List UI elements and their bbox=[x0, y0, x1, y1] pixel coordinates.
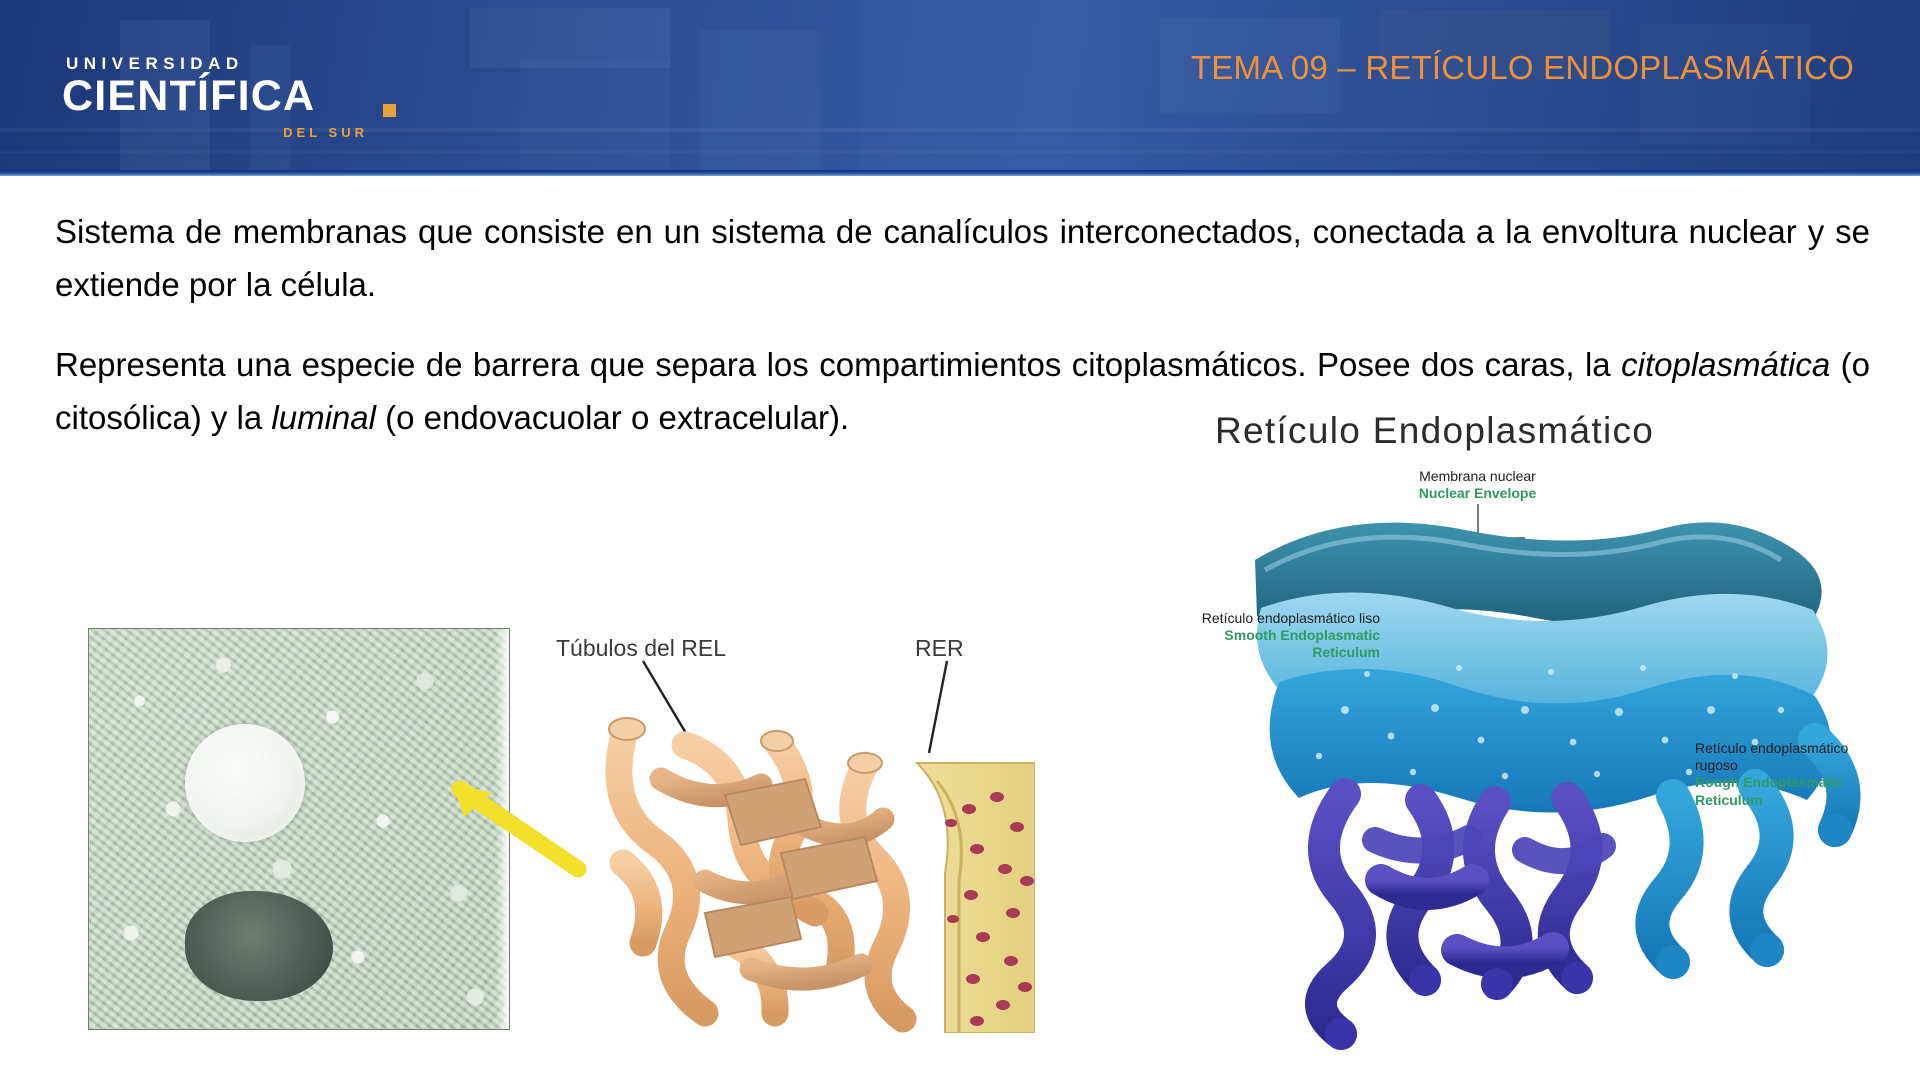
label-membrana-nuclear-es: Membrana nuclear bbox=[1360, 468, 1595, 485]
paragraph-2-text-1: Representa una especie de barrera que se… bbox=[55, 346, 1621, 383]
er-labeled-diagram: Retículo Endoplasmático bbox=[1195, 410, 1895, 1070]
label-reticulo-rugoso-es: Retículo endoplasmático rugoso bbox=[1695, 740, 1885, 774]
label-membrana-nuclear-en: Nuclear Envelope bbox=[1360, 485, 1595, 502]
label-reticulo-liso-es: Retículo endoplasmático liso bbox=[1200, 610, 1380, 627]
label-reticulo-rugoso-en: Rough Endoplasmatic Reticulum bbox=[1695, 774, 1885, 808]
university-logo: UNIVERSIDAD CIENTÍFICA DEL SUR bbox=[62, 55, 392, 130]
paragraph-2-text-3: (o endovacuolar o extracelular). bbox=[376, 399, 849, 436]
yellow-pointer-arrow-icon bbox=[400, 773, 590, 883]
label-reticulo-rugoso: Retículo endoplasmático rugoso Rough End… bbox=[1695, 740, 1885, 809]
label-membrana-nuclear: Membrana nuclear Nuclear Envelope bbox=[1360, 468, 1595, 502]
slide-title: TEMA 09 – RETÍCULO ENDOPLASMÁTICO bbox=[1191, 49, 1854, 87]
micrograph-vacuole bbox=[185, 724, 305, 842]
logo-main-line: CIENTÍFICA DEL SUR bbox=[62, 74, 392, 120]
paragraph-2-italic-1: citoplasmática bbox=[1621, 346, 1830, 383]
er-diagram-title: Retículo Endoplasmático bbox=[1215, 410, 1654, 452]
figures-row: Túbulos del REL RER bbox=[0, 505, 1920, 1080]
header-bottom-edge bbox=[0, 170, 1920, 176]
label-reticulo-liso: Retículo endoplasmático liso Smooth Endo… bbox=[1200, 610, 1380, 662]
logo-top-line: UNIVERSIDAD bbox=[66, 55, 392, 72]
label-rer: RER bbox=[915, 635, 964, 662]
er-tubules-svg bbox=[565, 613, 1035, 1033]
er-tubules-illustration: Túbulos del REL RER bbox=[565, 613, 1035, 1033]
label-reticulo-liso-en: Smooth Endoplasmatic Reticulum bbox=[1200, 627, 1380, 661]
logo-sub-line: DEL SUR bbox=[283, 126, 368, 140]
slide-header: UNIVERSIDAD CIENTÍFICA DEL SUR TEMA 09 –… bbox=[0, 0, 1920, 176]
logo-main-text: CIENTÍFICA bbox=[62, 72, 315, 120]
logo-accent-mark-icon bbox=[383, 104, 396, 117]
micrograph-dark-organelle bbox=[185, 891, 333, 1001]
label-tubulos-del-rel: Túbulos del REL bbox=[556, 635, 726, 662]
paragraph-1: Sistema de membranas que consiste en un … bbox=[55, 205, 1870, 312]
paragraph-2-italic-2: luminal bbox=[271, 399, 376, 436]
